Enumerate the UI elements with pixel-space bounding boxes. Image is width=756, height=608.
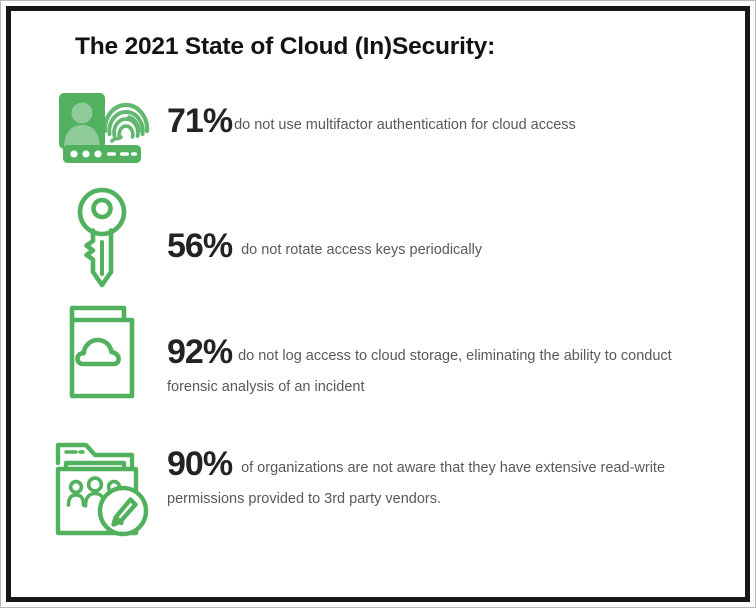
stat-icon-cell [37, 83, 167, 169]
stat-text-cell: 71%do not use multifactor authentication… [167, 83, 719, 141]
stat-icon-cell [37, 186, 167, 290]
folder-users-edit-icon [52, 439, 152, 541]
stat-row: 92%do not log access to cloud storage, e… [37, 294, 719, 427]
stat-icon-cell [37, 427, 167, 541]
card-content: The 2021 State of Cloud (In)Security: [11, 11, 745, 597]
stat-icon-cell [37, 294, 167, 404]
stat-line: 56%do not rotate access keys periodicall… [167, 231, 709, 266]
page-title: The 2021 State of Cloud (In)Security: [75, 33, 719, 61]
id-badge-fingerprint-icon [53, 87, 151, 169]
stat-row: 90%of organizations are not aware that t… [37, 427, 719, 557]
stat-line: 92%do not log access to cloud storage, e… [167, 337, 709, 403]
stat-row: 56%do not rotate access keys periodicall… [37, 186, 719, 294]
stat-row: 71%do not use multifactor authentication… [37, 83, 719, 186]
key-icon [71, 186, 133, 290]
stat-percent: 90% [167, 445, 232, 483]
stat-text-cell: 92%do not log access to cloud storage, e… [167, 294, 719, 403]
stat-line: 90%of organizations are not aware that t… [167, 449, 709, 515]
stat-text-cell: 90%of organizations are not aware that t… [167, 427, 719, 515]
stat-description: of organizations are not aware that they… [167, 460, 665, 507]
stat-percent: 92% [167, 333, 232, 371]
stat-line: 71%do not use multifactor authentication… [167, 106, 709, 141]
stat-percent: 56% [167, 227, 232, 265]
stat-description: do not use multifactor authentication fo… [234, 117, 576, 133]
stat-description: do not rotate access keys periodically [241, 242, 482, 258]
infographic-card: The 2021 State of Cloud (In)Security: [0, 0, 756, 608]
card-border: The 2021 State of Cloud (In)Security: [6, 6, 750, 602]
stat-description: do not log access to cloud storage, elim… [167, 348, 672, 395]
stat-text-cell: 56%do not rotate access keys periodicall… [167, 186, 719, 266]
cloud-storage-icon [64, 300, 140, 404]
stat-percent: 71% [167, 102, 232, 140]
